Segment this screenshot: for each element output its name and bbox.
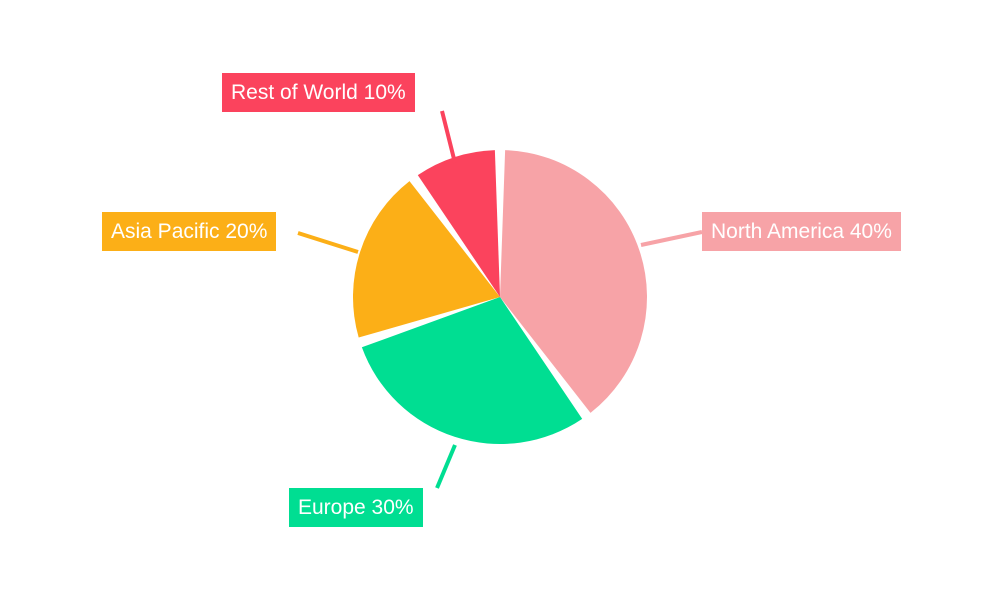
pie-label-europe: Europe 30% xyxy=(289,488,423,527)
pie-label-asia-pacific: Asia Pacific 20% xyxy=(102,212,276,251)
pie-chart-canvas xyxy=(0,0,1000,600)
pie-label-rest-of-world: Rest of World 10% xyxy=(222,73,415,112)
pie-label-north-america: North America 40% xyxy=(702,212,901,251)
leader-line-north-america xyxy=(641,232,702,245)
leader-line-rest-of-world xyxy=(442,111,455,163)
leader-line-europe xyxy=(437,445,455,488)
pie-slices xyxy=(353,150,647,444)
leader-line-asia-pacific xyxy=(298,233,358,252)
pie-chart: North America 40% Europe 30% Asia Pacifi… xyxy=(0,0,1000,600)
